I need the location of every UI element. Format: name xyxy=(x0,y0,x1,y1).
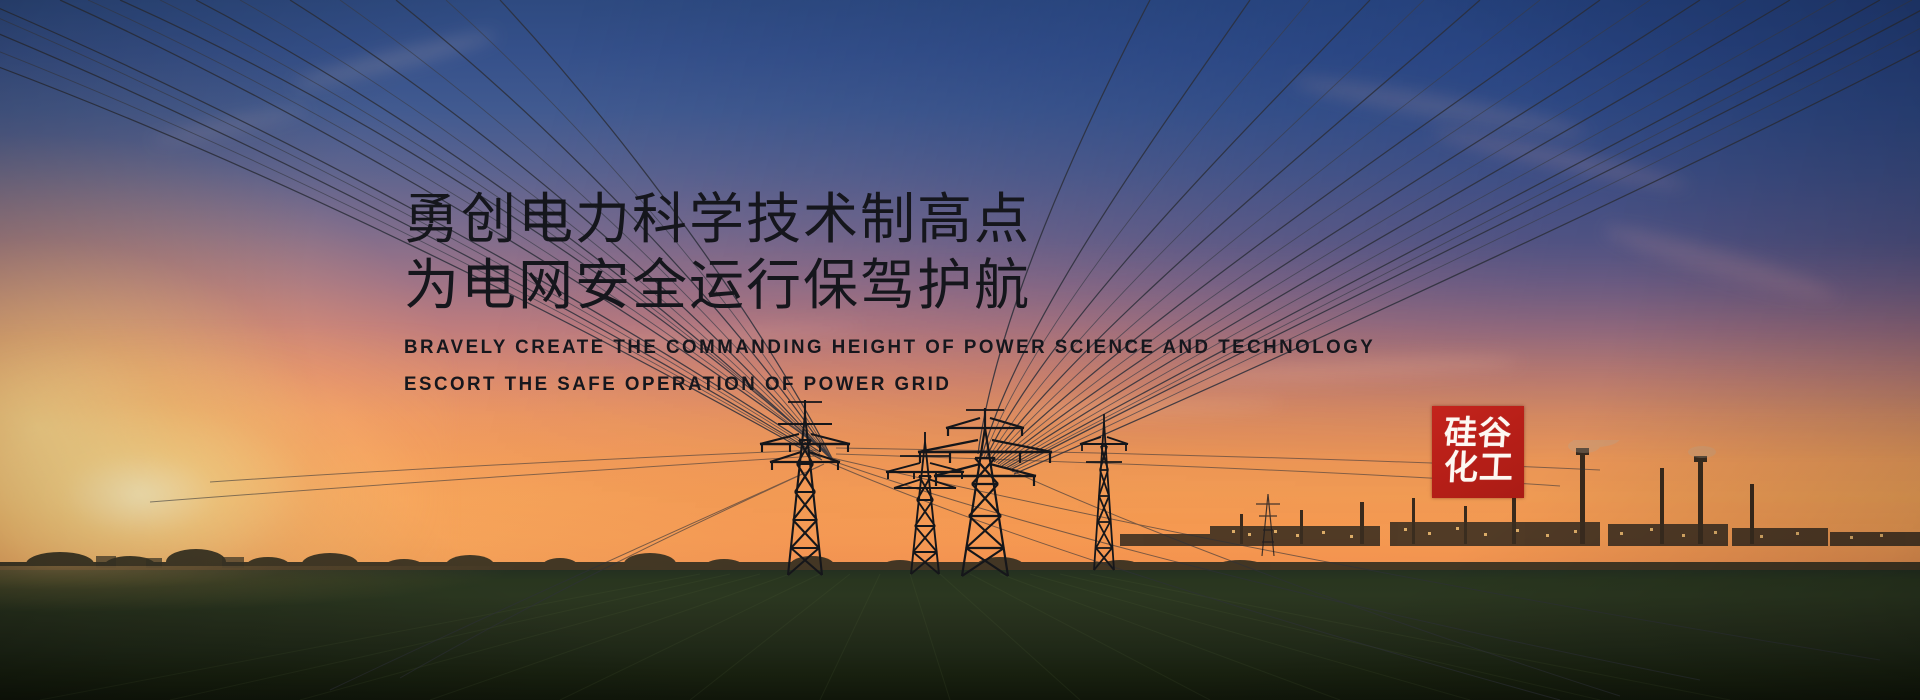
seal-text-line-2: 化工 xyxy=(1443,452,1515,486)
hero-banner: 勇创电力科学技术制高点 为电网安全运行保驾护航 BRAVELY CREATE T… xyxy=(0,0,1920,700)
headline-line-1: 勇创电力科学技术制高点 xyxy=(404,186,1484,252)
pylon-center xyxy=(918,408,1052,576)
subtitle-line-2: ESCORT THE SAFE OPERATION OF POWER GRID xyxy=(404,373,1441,396)
banner-text-block: 勇创电力科学技术制高点 为电网安全运行保驾护航 BRAVELY CREATE T… xyxy=(404,186,1484,396)
pylon-distant xyxy=(1256,494,1280,556)
subtitle-line-1: BRAVELY CREATE THE COMMANDING HEIGHT OF … xyxy=(404,336,1441,359)
pylon-right xyxy=(1080,414,1128,570)
company-seal-logo[interactable]: 硅谷 化工 xyxy=(1432,406,1524,498)
seal-text-line-1: 硅谷 xyxy=(1443,418,1513,451)
headline-line-2: 为电网安全运行保驾护航 xyxy=(404,252,1484,318)
seal-inner: 硅谷 化工 xyxy=(1432,406,1524,498)
pylon-left xyxy=(760,400,850,575)
